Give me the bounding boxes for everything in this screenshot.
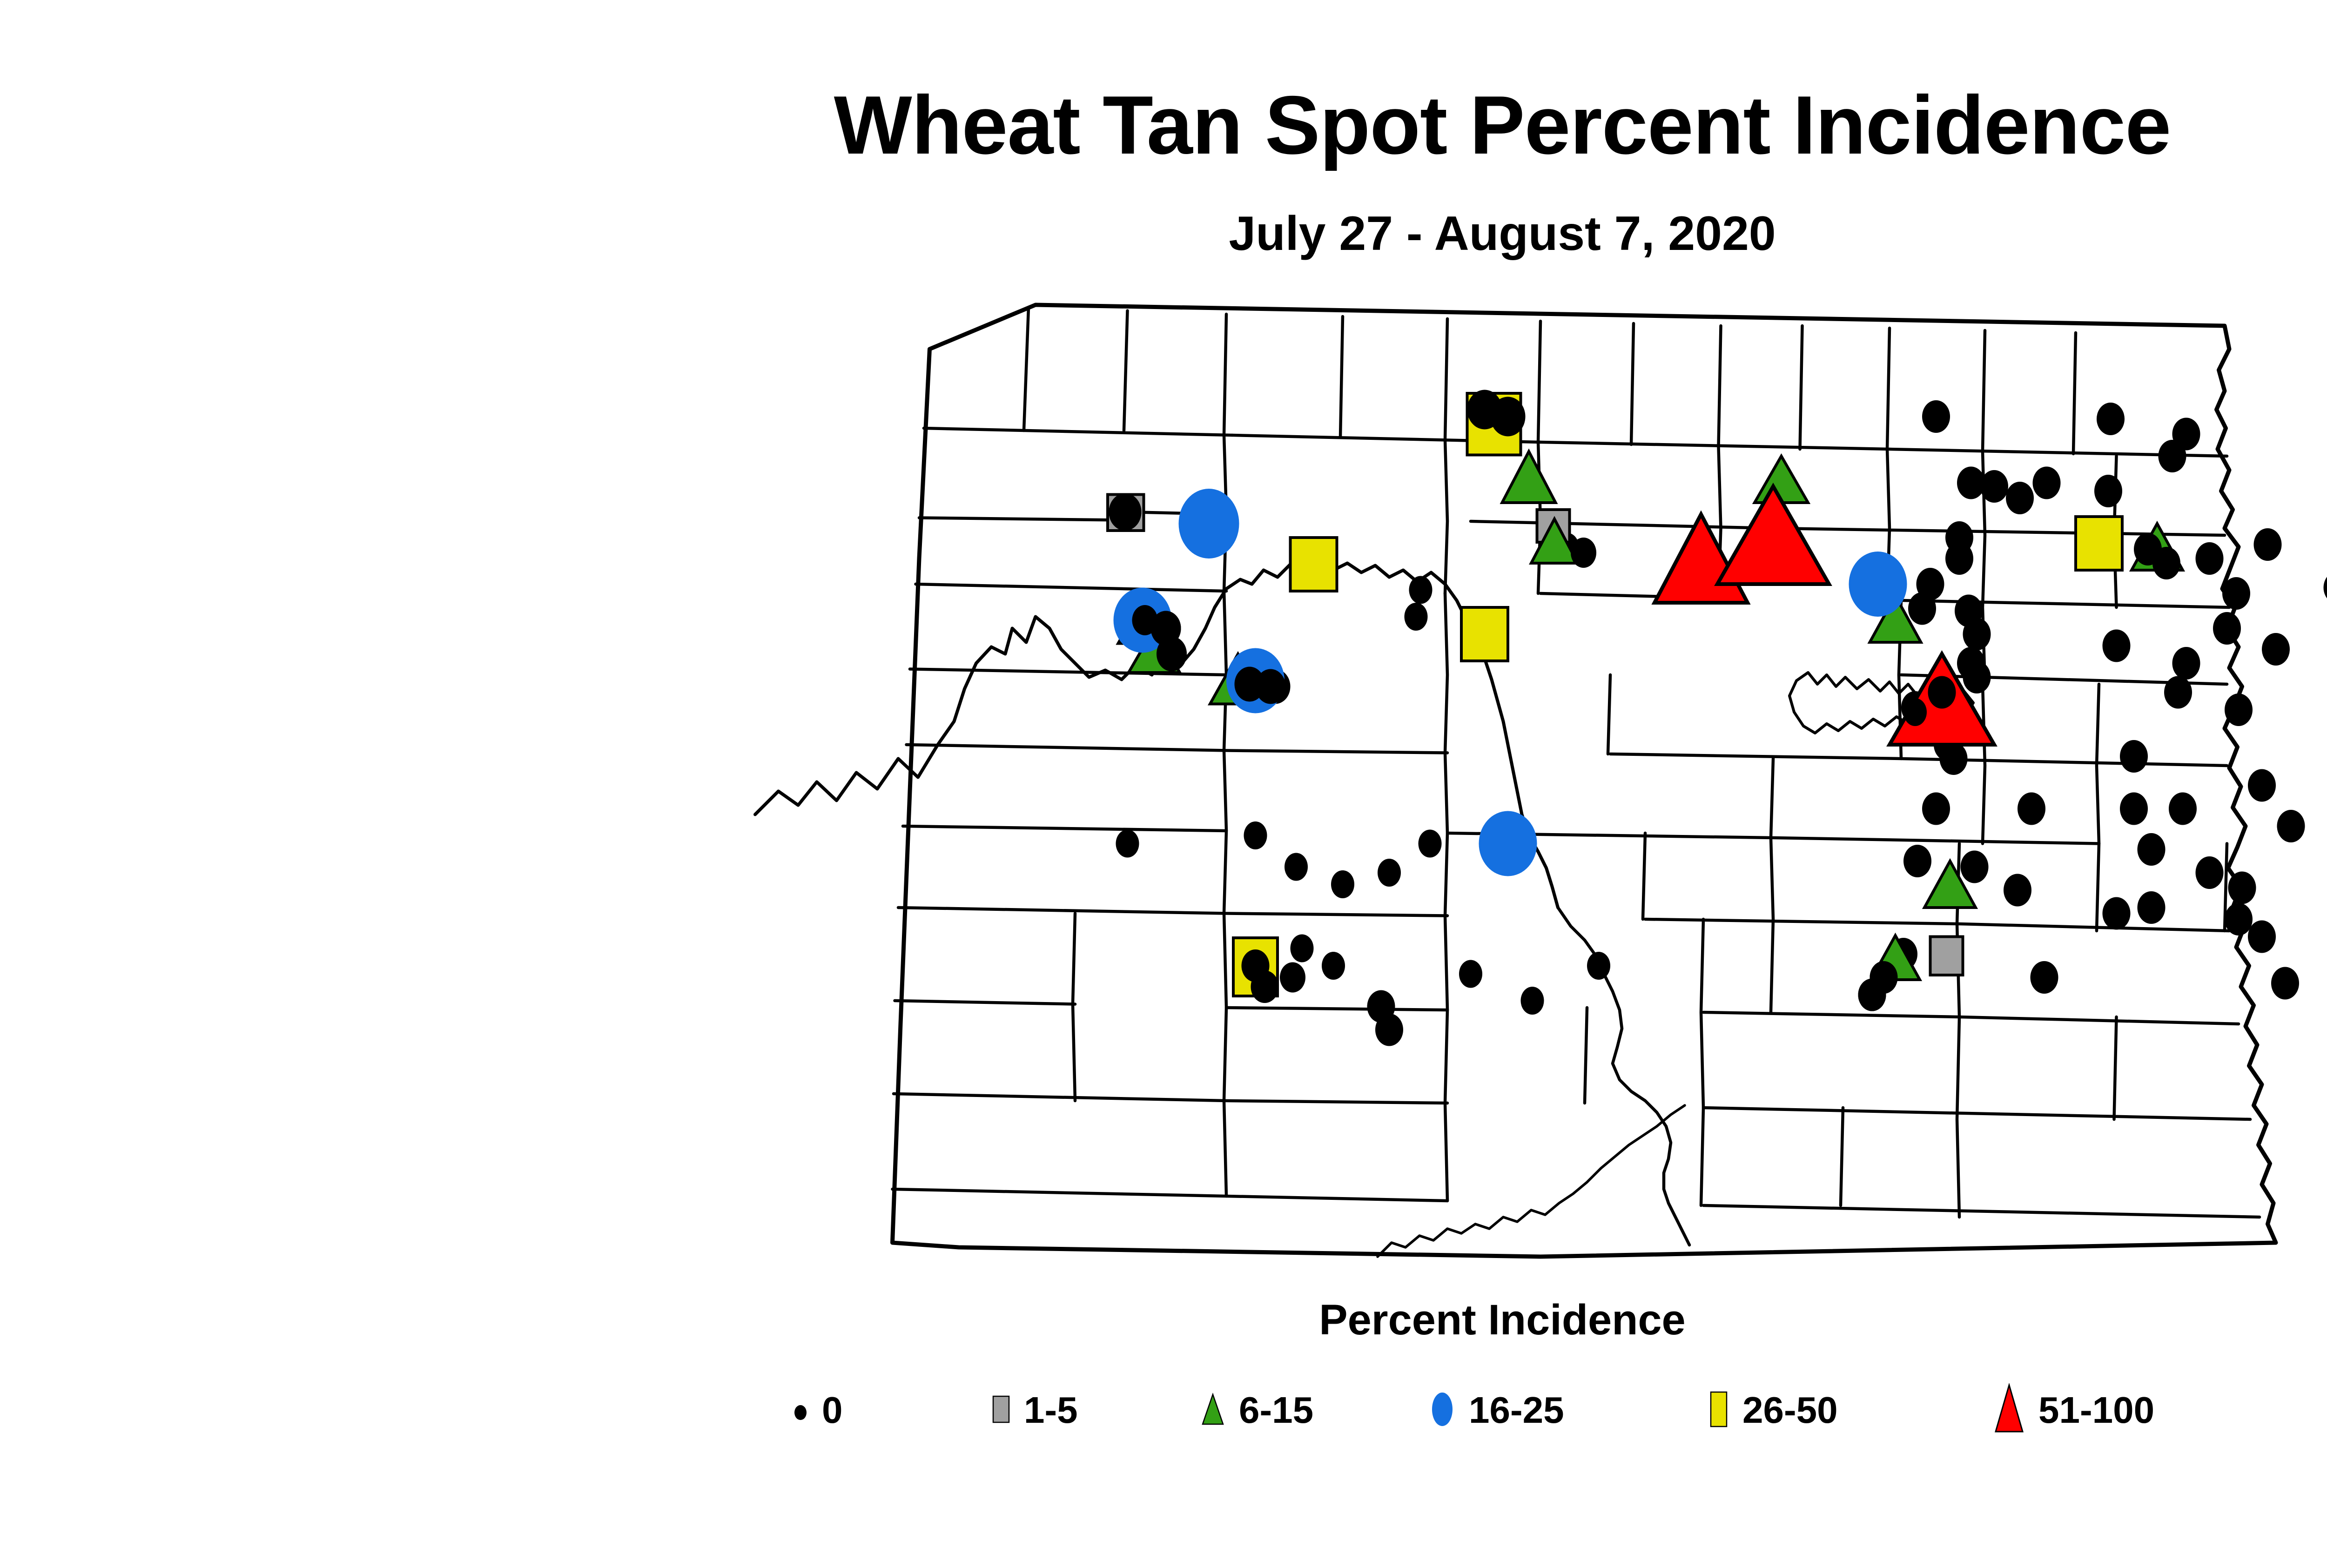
- marker-dot: [2164, 676, 2192, 709]
- marker-yellow-square: [1461, 607, 1508, 661]
- marker-dot: [1521, 987, 1544, 1015]
- marker-dot: [1132, 605, 1158, 635]
- marker-dot: [2248, 921, 2276, 953]
- legend: 0 1-5 6-15 16-25 26-50: [791, 1375, 2327, 1445]
- marker-dot: [1980, 470, 2008, 503]
- county-vline-5c: [1445, 916, 1447, 1201]
- marker-dot: [2004, 874, 2031, 907]
- county-vline-2: [1124, 311, 1128, 431]
- marker-dot: [1945, 542, 1973, 575]
- marker-dot: [2196, 856, 2224, 889]
- marker-dot: [1961, 851, 1989, 883]
- james-river: [1378, 1105, 1685, 1257]
- marker-blue-circle: [1479, 811, 1537, 876]
- legend-blue-circle-icon: [1428, 1388, 1457, 1433]
- state-outline: [893, 305, 2276, 1257]
- marker-dot: [2169, 793, 2197, 825]
- marker-dot: [2097, 403, 2125, 435]
- marker-dot: [2006, 482, 2034, 514]
- marker-dot: [1375, 1014, 1403, 1046]
- county-vline-16: [1771, 759, 1773, 1012]
- marker-dot: [1459, 960, 1482, 988]
- marker-dot: [1251, 970, 1279, 1003]
- county-line-s3b: [1703, 1108, 2250, 1119]
- marker-dot: [1331, 870, 1354, 898]
- legend-label-51-100: 51-100: [2038, 1392, 2154, 1429]
- county-line-n3c: [1901, 600, 2229, 607]
- marker-dot: [2103, 630, 2131, 662]
- marker-dot: [2213, 612, 2241, 645]
- county-vline-18: [1608, 675, 1610, 754]
- marker-dot: [1109, 493, 1142, 531]
- marker-dot: [1922, 793, 1950, 825]
- marker-dot: [1491, 397, 1526, 437]
- legend-item-26-50[interactable]: 26-50: [1707, 1375, 1838, 1445]
- marker-dot: [1858, 979, 1886, 1011]
- legend-item-16-25[interactable]: 16-25: [1428, 1375, 1564, 1445]
- marker-dot: [2103, 897, 2131, 930]
- marker-red-triangle: [1717, 486, 1829, 584]
- marker-dot: [1922, 400, 1950, 433]
- county-line-s3: [894, 1094, 1447, 1103]
- legend-title: Percent Incidence: [0, 1299, 2327, 1341]
- county-vline-24: [1585, 1008, 1587, 1103]
- marker-dot: [1928, 676, 1956, 709]
- marker-blue-circle: [1849, 552, 1907, 617]
- county-line-mid2b: [1447, 833, 2099, 844]
- county-vline-11b: [1983, 684, 1985, 844]
- marker-dot: [1963, 618, 1991, 651]
- county-vline-5: [1445, 319, 1447, 593]
- marker-dot: [2248, 769, 2276, 802]
- county-vline-23: [1841, 1108, 1843, 1205]
- legend-label-6-15: 6-15: [1239, 1392, 1313, 1429]
- legend-label-26-50: 26-50: [1742, 1392, 1838, 1429]
- marker-dot: [2152, 547, 2180, 579]
- marker-dot: [2262, 633, 2290, 666]
- map-figure: Wheat Tan Spot Percent Incidence July 27…: [0, 0, 2327, 1568]
- county-vline-3b: [1224, 591, 1226, 914]
- county-line-s2: [895, 1001, 1076, 1004]
- legend-label-16-25: 16-25: [1469, 1392, 1564, 1429]
- marker-dot: [2228, 872, 2256, 904]
- legend-item-51-100[interactable]: 51-100: [1992, 1375, 2154, 1445]
- missouri-river-south: [1558, 908, 1690, 1245]
- marker-dot: [2031, 961, 2058, 994]
- county-line-s2c: [1703, 1012, 2239, 1024]
- county-line-n1c: [1540, 442, 1890, 449]
- marker-dot: [1256, 669, 1286, 704]
- marker-gray-square: [1930, 937, 1963, 976]
- marker-dot: [2033, 467, 2061, 499]
- county-vline-3c: [1224, 914, 1226, 1197]
- page-title: Wheat Tan Spot Percent Incidence: [0, 84, 2327, 167]
- marker-dot: [1940, 742, 1968, 775]
- marker-dot: [1587, 952, 1610, 980]
- marker-dot: [1378, 859, 1401, 887]
- marker-dot: [1116, 830, 1139, 858]
- county-vline-14: [2097, 684, 2099, 931]
- marker-dot: [2324, 572, 2327, 604]
- north-dakota-map: [726, 279, 2327, 1294]
- marker-dot: [1903, 698, 1927, 726]
- county-vline-7: [1631, 323, 1634, 444]
- legend-green-triangle-icon: [1199, 1392, 1227, 1429]
- marker-dot: [1409, 576, 1433, 604]
- legend-label-0: 0: [822, 1392, 843, 1429]
- county-vline-1: [1024, 307, 1029, 431]
- county-line-mid2: [903, 826, 1226, 831]
- marker-dot: [2222, 577, 2250, 610]
- marker-dot: [1322, 952, 1345, 980]
- marker-dot: [2138, 891, 2166, 924]
- legend-item-6-15[interactable]: 6-15: [1199, 1375, 1313, 1445]
- legend-item-1-5[interactable]: 1-5: [990, 1375, 1078, 1445]
- marker-dot: [2225, 693, 2253, 726]
- county-vline-4: [1340, 316, 1343, 437]
- marker-blue-circle: [1179, 489, 1239, 559]
- marker-dot: [2159, 440, 2186, 472]
- page-subtitle: July 27 - August 7, 2020: [0, 209, 2327, 258]
- marker-dot: [1903, 845, 1931, 877]
- marker-dot: [1405, 603, 1428, 631]
- marker-yellow-square: [1291, 538, 1337, 591]
- legend-gray-square-icon: [990, 1393, 1012, 1428]
- county-vline-12: [2073, 333, 2076, 454]
- legend-red-triangle-icon: [1992, 1383, 2026, 1438]
- county-vline-19: [1643, 833, 1645, 919]
- marker-dot: [2277, 810, 2305, 842]
- legend-dot-icon: [791, 1399, 810, 1422]
- legend-yellow-square-icon: [1707, 1389, 1730, 1432]
- marker-yellow-square: [2076, 517, 2122, 570]
- county-line-n2b: [1471, 521, 1773, 528]
- county-line-mid1: [907, 745, 1448, 753]
- marker-dot: [1244, 821, 1267, 849]
- legend-label-1-5: 1-5: [1024, 1392, 1078, 1429]
- county-vline-5b: [1445, 593, 1447, 916]
- county-line-n1: [924, 428, 1232, 435]
- county-line-s2b: [1226, 1008, 1447, 1010]
- marker-dot: [1157, 637, 1187, 672]
- county-vline-22: [2114, 1017, 2117, 1119]
- marker-dot: [1963, 661, 1991, 693]
- marker-dot: [2018, 793, 2045, 825]
- marker-dot: [2254, 528, 2282, 561]
- marker-dot: [1291, 935, 1314, 962]
- county-vline-20: [1073, 914, 1075, 1101]
- marker-green-triangle: [1502, 451, 1556, 503]
- marker-dot: [2120, 793, 2148, 825]
- incidence-markers: [1108, 390, 2327, 1046]
- marker-dot: [2094, 475, 2122, 507]
- marker-dot: [2196, 542, 2224, 575]
- legend-item-0[interactable]: 0: [791, 1375, 843, 1445]
- county-line-s4: [893, 1189, 1448, 1201]
- marker-dot: [2172, 647, 2200, 680]
- marker-dot: [2120, 740, 2148, 773]
- marker-dot: [2138, 833, 2166, 866]
- marker-dot: [1908, 592, 1936, 625]
- county-vline-9: [1800, 326, 1802, 449]
- county-vline-17: [1701, 919, 1703, 1205]
- marker-dot: [2271, 967, 2299, 1000]
- county-line-s1b: [1645, 919, 2229, 931]
- county-line-n3: [916, 584, 1227, 591]
- marker-dot: [2225, 903, 2253, 935]
- marker-dot: [1571, 538, 1596, 568]
- marker-dot: [1419, 830, 1442, 858]
- marker-green-triangle: [1755, 456, 1808, 503]
- map-svg: [726, 279, 2327, 1294]
- county-line-s1: [898, 908, 1447, 916]
- marker-dot: [1280, 962, 1305, 993]
- marker-dot: [1285, 853, 1308, 881]
- marker-group-1-5: [1108, 495, 1963, 976]
- county-line-s4b: [1703, 1205, 2260, 1217]
